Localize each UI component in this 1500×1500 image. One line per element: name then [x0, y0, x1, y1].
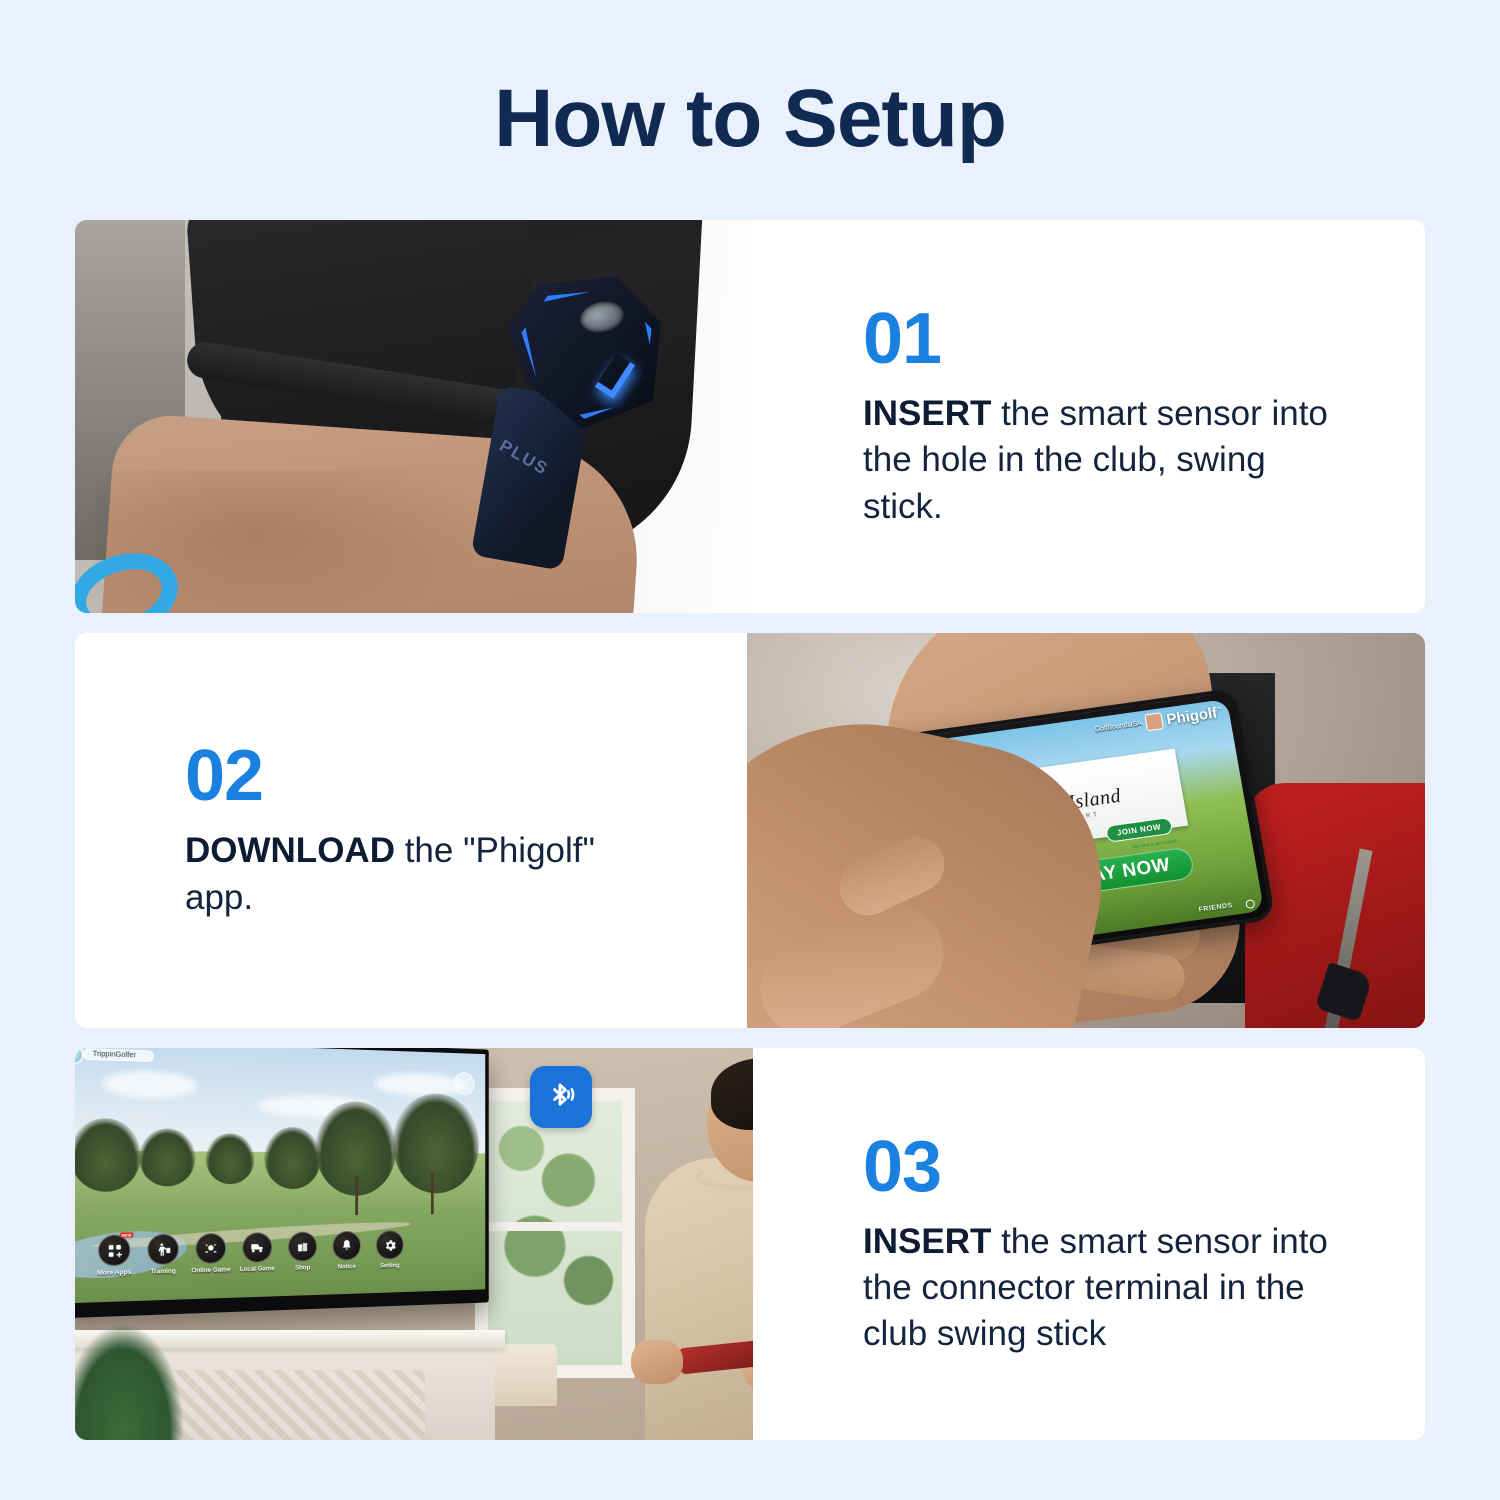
tv-menu-label: Setting	[372, 1262, 407, 1270]
grid-apps-icon: NEW	[98, 1234, 130, 1266]
bell-icon	[332, 1231, 360, 1261]
tv-menu-label: Online Game	[191, 1266, 230, 1274]
tree	[139, 1129, 196, 1187]
tree	[393, 1092, 479, 1193]
house-plant	[75, 1326, 183, 1440]
screen-corner-icon[interactable]	[1245, 899, 1255, 909]
setup-step-card-01: PLUS 01 INSERT the smart sensor into the…	[75, 220, 1425, 613]
tv-menu-item-local-game[interactable]: Local Game	[238, 1232, 276, 1273]
training-icon	[147, 1234, 178, 1266]
setup-step-card-02: GolfBoundUSA Phigolf™ PLAY Kiawah Island…	[75, 633, 1425, 1028]
app-brand-label: Phigolf™	[1165, 704, 1224, 729]
tree-trunk	[431, 1172, 434, 1214]
player-username: TrippinGolfer	[83, 1048, 154, 1062]
bluetooth-icon	[530, 1066, 592, 1128]
tv-menu-item-more-apps[interactable]: NEW More Apps	[94, 1234, 135, 1277]
app-brand-text: Phigolf	[1165, 705, 1218, 729]
step-03-keyword: INSERT	[863, 1222, 991, 1261]
online-game-icon	[195, 1233, 226, 1264]
avatar	[1144, 712, 1164, 731]
friends-label[interactable]: FRIENDS	[1198, 902, 1233, 914]
shop-icon	[288, 1232, 317, 1262]
step-02-photo: GolfBoundUSA Phigolf™ PLAY Kiawah Island…	[747, 633, 1425, 1028]
person-left-hand	[631, 1340, 683, 1384]
person-body	[645, 1158, 753, 1440]
tv-menu-item-shop[interactable]: Shop	[284, 1231, 321, 1272]
tv-menu-item-notice[interactable]: Notice	[329, 1231, 365, 1271]
tv-hud-indicator	[453, 1072, 474, 1095]
tree	[206, 1133, 255, 1184]
tv-menu-item-training[interactable]: Training	[143, 1234, 183, 1276]
step-03-text-panel: 03 INSERT the smart sensor into the conn…	[753, 1048, 1425, 1440]
tv-menu-label: Local Game	[238, 1265, 276, 1273]
app-top-bar: GolfBoundUSA Phigolf™	[1093, 704, 1224, 739]
step-03-number: 03	[863, 1131, 1425, 1203]
tree	[264, 1127, 321, 1189]
join-now-subtitle: Tap here to get started	[1132, 838, 1177, 849]
tv-menu-label: Training	[143, 1268, 183, 1276]
step-02-description: DOWNLOAD the "Phigolf" app.	[185, 828, 655, 920]
trademark-symbol: ™	[1216, 707, 1223, 714]
tv-menu-label: Notice	[329, 1263, 365, 1271]
step-02-number: 02	[185, 740, 747, 812]
tree-trunk	[355, 1176, 358, 1215]
television: TrippinGolfer NEW	[75, 1048, 489, 1319]
grip-plus-label: PLUS	[496, 436, 575, 493]
step-02-keyword: DOWNLOAD	[185, 831, 395, 870]
step-01-keyword: INSERT	[863, 394, 991, 433]
app-username: GolfBoundUSA	[1094, 720, 1142, 734]
setup-step-card-03: TrippinGolfer NEW	[75, 1048, 1425, 1440]
step-01-description: INSERT the smart sensor into the hole in…	[863, 391, 1333, 530]
step-01-photo: PLUS	[75, 220, 753, 613]
new-badge: NEW	[119, 1232, 133, 1237]
tv-menu-label: Shop	[284, 1264, 321, 1272]
step-01-number: 01	[863, 303, 1425, 375]
golf-cart-icon	[242, 1232, 272, 1263]
step-02-text-panel: 02 DOWNLOAD the "Phigolf" app.	[75, 633, 747, 1028]
tv-screen: TrippinGolfer NEW	[75, 1048, 485, 1304]
step-03-photo: TrippinGolfer NEW	[75, 1048, 753, 1440]
how-to-setup-page: How to Setup PLUS 01 INSERT the smart se…	[0, 0, 1500, 1500]
step-01-text-panel: 01 INSERT the smart sensor into the hole…	[753, 220, 1425, 613]
page-title: How to Setup	[0, 78, 1500, 160]
tv-menu-item-online-game[interactable]: Online Game	[191, 1233, 230, 1275]
gear-icon	[376, 1230, 404, 1260]
step-03-description: INSERT the smart sensor into the connect…	[863, 1219, 1333, 1358]
window-foliage	[488, 1101, 622, 1365]
tv-menu-label: More Apps	[94, 1269, 135, 1277]
join-now-button[interactable]: JOIN NOW	[1105, 817, 1174, 843]
window-mullion	[488, 1222, 622, 1231]
tv-menu-item-setting[interactable]: Setting	[372, 1230, 407, 1270]
